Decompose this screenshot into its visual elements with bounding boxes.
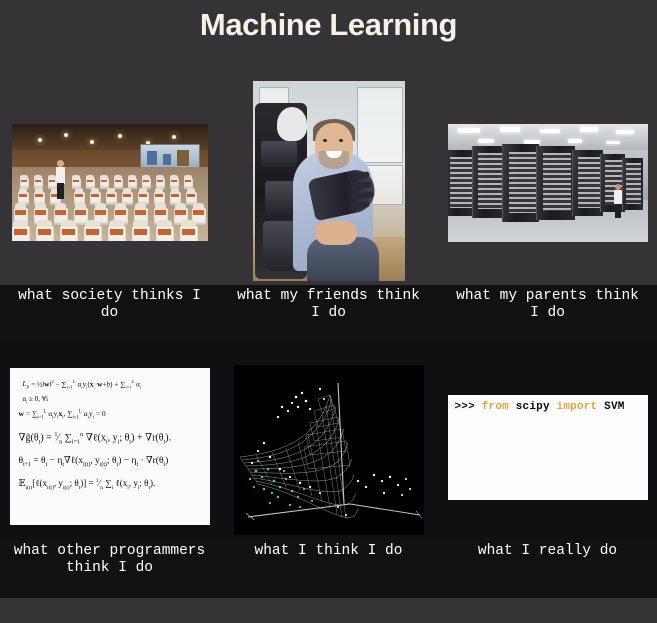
panel-society-caption: what society thinks I do <box>0 285 219 322</box>
panel-really-do: >>> from scipy import SVM what I really … <box>438 340 657 598</box>
panel-other-programmers: LP = ½‖w‖2 − ∑i=1L αiyi(xi·w+b) + ∑i=1L … <box>0 340 219 598</box>
console-prompt: >>> <box>455 401 482 413</box>
panel-parents-caption: what my parents think I do <box>438 285 657 322</box>
man-with-robot-illustration <box>253 81 405 281</box>
panel-friends: what my friends think I do <box>219 48 438 340</box>
panel-row-top: what society thinks I do <box>0 48 657 340</box>
bottom-margin-strip <box>0 598 657 623</box>
panel-really-do-image: >>> from scipy import SVM <box>448 395 648 500</box>
panel-row-bottom: LP = ½‖w‖2 − ∑i=1L αiyi(xi·w+b) + ∑i=1L … <box>0 340 657 598</box>
panel-friends-image <box>253 81 405 281</box>
panel-really-do-caption: what I really do <box>438 540 657 560</box>
panel-society: what society thinks I do <box>0 48 219 340</box>
panel-society-image <box>12 124 208 241</box>
panel-parents-caption-band: what my parents think I do <box>438 285 657 340</box>
formula-svm-primal: LP = ½‖w‖2 − ∑i=1L αiyi(xi·w+b) + ∑i=1L … <box>23 379 203 390</box>
formula-alpha-constraint: αi ≥ 0, ∀i <box>23 395 203 404</box>
panel-friends-caption: what my friends think I do <box>219 285 438 322</box>
wireframe-surface-plot <box>234 365 424 535</box>
code-token-scipy: scipy <box>516 401 557 413</box>
math-formula-sheet: LP = ½‖w‖2 − ∑i=1L αiyi(xi·w+b) + ∑i=1L … <box>10 368 210 525</box>
page-title: Machine Learning <box>200 9 457 40</box>
formula-gradient-estimate: ∇ĝ(θt) = 1⁄n ∑i=1n ∇ℓ(xi, yi; θt) + ∇r(θ… <box>19 431 203 445</box>
panel-i-think: what I think I do <box>219 340 438 598</box>
panel-really-do-caption-band: what I really do <box>438 540 657 598</box>
formula-sgd-update: θt+1 = θt − ηt∇ℓ(xi(t), yi(t); θt) − ηt … <box>19 455 203 468</box>
panel-i-think-caption: what I think I do <box>219 540 438 560</box>
panel-friends-caption-band: what my friends think I do <box>219 285 438 340</box>
robot-hall-illustration <box>12 124 208 241</box>
panel-other-programmers-caption: what other programmers think I do <box>0 540 219 577</box>
python-console: >>> from scipy import SVM <box>448 395 648 500</box>
server-room-illustration <box>448 124 648 242</box>
formula-w-expansion: w = ∑i=1L αiyixi, ∑i=1L αiyi = 0 <box>19 409 203 421</box>
panel-i-think-image <box>234 365 424 535</box>
formula-expectation: 𝔼i(t)[ℓ(xi(t), yi(t); θt)] = 1⁄n ∑i ℓ(xi… <box>19 478 203 491</box>
code-token-svm: SVM <box>604 401 624 413</box>
console-code-line: >>> from scipy import SVM <box>455 401 641 413</box>
panel-other-programmers-caption-band: what other programmers think I do <box>0 540 219 598</box>
panel-other-programmers-image: LP = ½‖w‖2 − ∑i=1L αiyi(xi·w+b) + ∑i=1L … <box>10 368 210 525</box>
code-token-from: from <box>482 401 516 413</box>
panel-i-think-caption-band: what I think I do <box>219 540 438 598</box>
panel-parents-image <box>448 124 648 242</box>
meme-title-bar: Machine Learning <box>0 0 657 48</box>
meme-image: Machine Learning <box>0 0 657 623</box>
panel-society-caption-band: what society thinks I do <box>0 285 219 340</box>
code-token-import: import <box>557 401 605 413</box>
panel-parents: what my parents think I do <box>438 48 657 340</box>
surface-plot-svg <box>234 365 424 535</box>
